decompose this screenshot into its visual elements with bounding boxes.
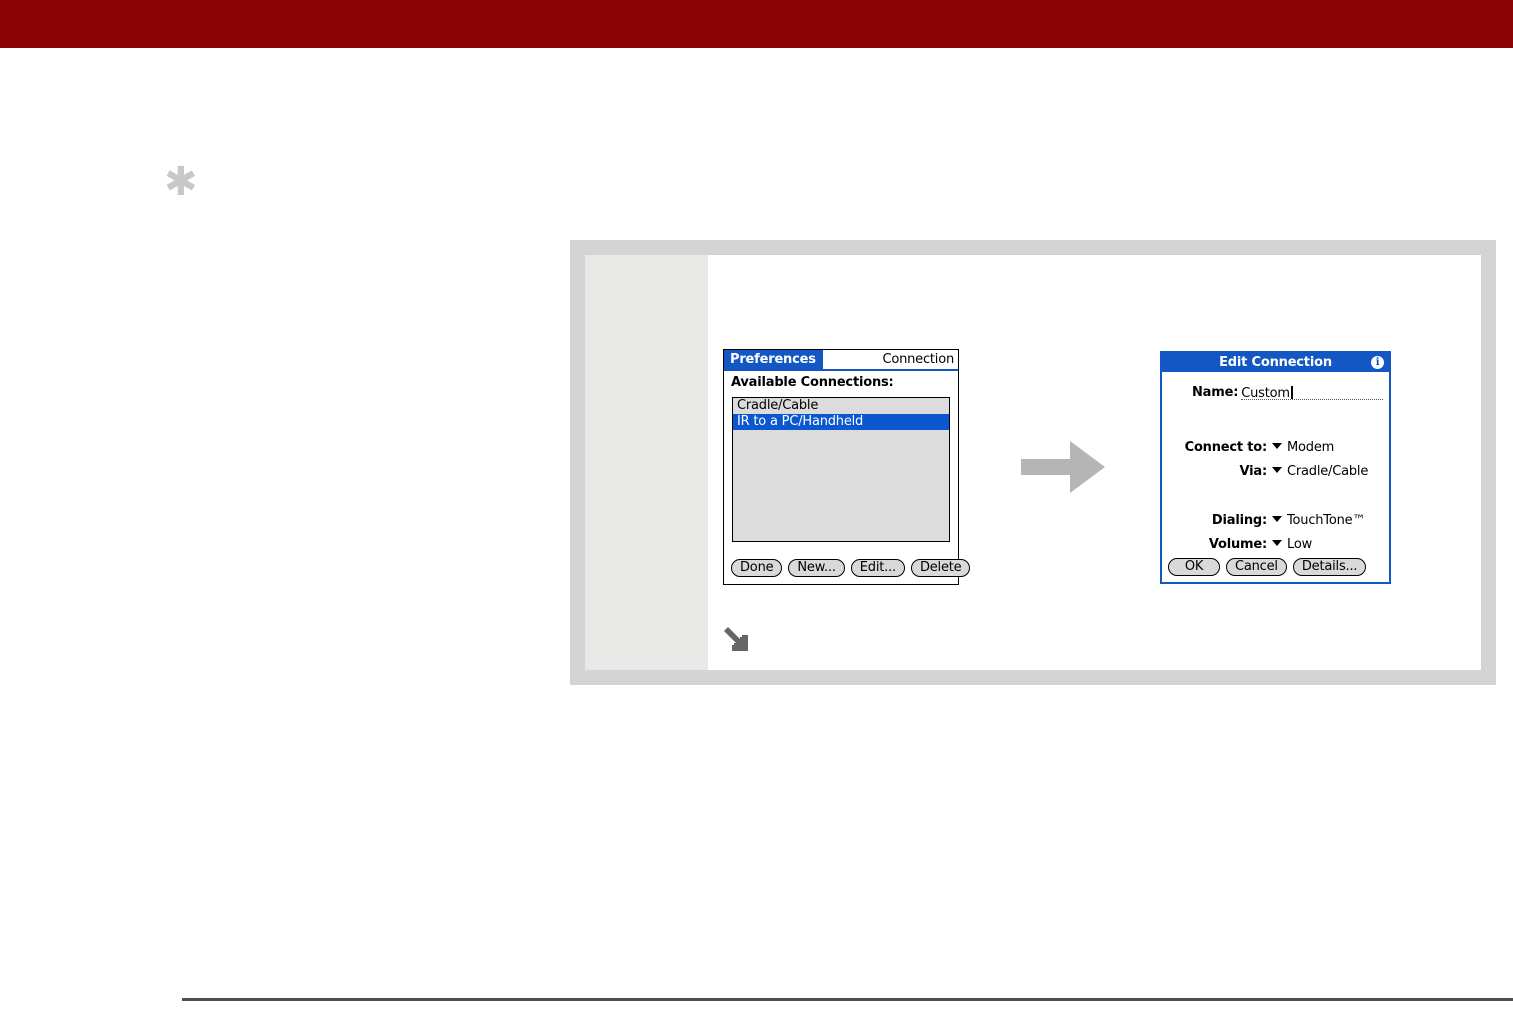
via-label: Via: [1168,464,1267,479]
app-title-tab[interactable]: Preferences [724,350,823,369]
edit-connection-button-row: OK Cancel Details... [1168,558,1366,576]
text-cursor [1291,386,1293,399]
name-input-value: Custom [1241,386,1290,401]
name-field-row: Name: Custom [1162,382,1389,400]
arrow-down-right-icon [722,625,752,655]
cancel-button[interactable]: Cancel [1226,558,1287,576]
asterisk-icon: ✱ [164,164,194,200]
edit-button[interactable]: Edit... [851,559,905,577]
footer-rule [182,998,1513,1001]
screen-name-label: Connection [882,350,954,369]
chevron-down-icon[interactable] [1272,467,1282,473]
preferences-button-row: Done New... Edit... Delete [731,559,970,577]
chevron-down-icon[interactable] [1272,443,1282,449]
done-button[interactable]: Done [731,559,782,577]
list-item[interactable]: IR to a PC/Handheld [733,414,949,430]
dialog-title: Edit Connection [1219,355,1332,370]
name-label: Name: [1192,385,1238,400]
new-button[interactable]: New... [788,559,844,577]
dialing-label: Dialing: [1168,513,1267,528]
available-connections-heading: Available Connections: [731,375,958,390]
dialing-value[interactable]: TouchTone™ [1287,513,1365,528]
list-item[interactable]: Cradle/Cable [733,398,949,414]
connect-to-label: Connect to: [1168,440,1267,455]
chevron-down-icon[interactable] [1272,540,1282,546]
edit-connection-dialog: Edit Connection i Name: Custom Connect t… [1160,351,1391,584]
connect-to-field-row: Connect to: Modem [1168,440,1383,455]
ok-button[interactable]: OK [1168,558,1220,576]
edit-connection-title-bar: Edit Connection i [1162,353,1389,372]
via-value[interactable]: Cradle/Cable [1287,464,1368,479]
via-field-row: Via: Cradle/Cable [1168,464,1383,479]
connect-to-value[interactable]: Modem [1287,440,1334,455]
delete-button[interactable]: Delete [911,559,971,577]
info-icon[interactable]: i [1371,356,1384,369]
chevron-down-icon[interactable] [1272,516,1282,522]
connections-list[interactable]: Cradle/Cable IR to a PC/Handheld [732,397,950,542]
preferences-screen: Preferences Connection Available Connect… [723,349,959,585]
edit-connection-body: Name: Custom Connect to: Modem Via: Crad… [1162,372,1389,582]
volume-field-row: Volume: Low [1168,537,1383,552]
page-header-banner [0,0,1513,48]
volume-value[interactable]: Low [1287,537,1312,552]
details-button[interactable]: Details... [1293,558,1366,576]
volume-label: Volume: [1168,537,1267,552]
arrow-right-icon [1021,437,1107,497]
dialing-field-row: Dialing: TouchTone™ [1168,513,1383,528]
name-input[interactable]: Custom [1241,382,1383,400]
figure-side-column [585,255,708,670]
preferences-title-bar: Preferences Connection [724,350,958,371]
